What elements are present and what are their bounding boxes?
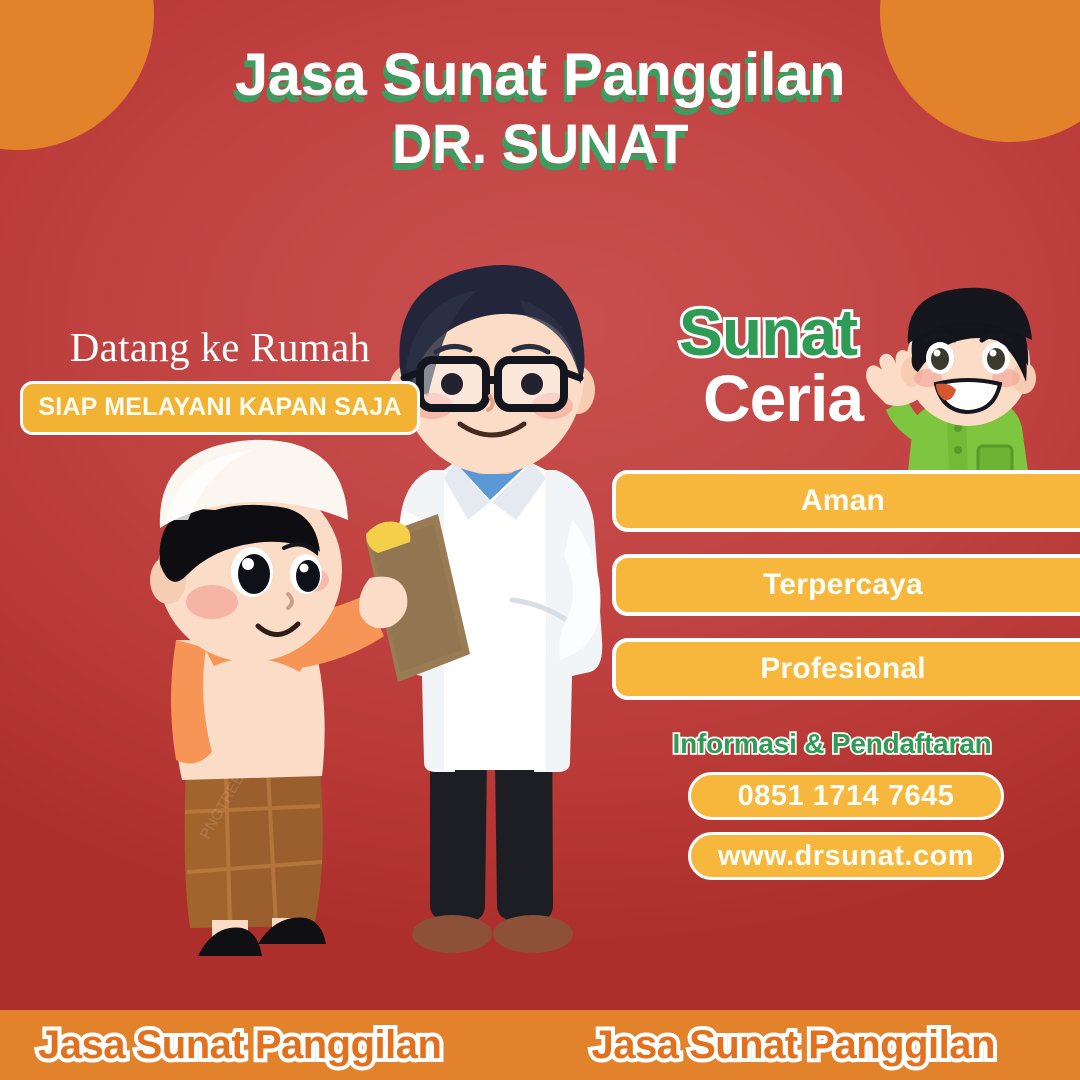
feature-pill-label-aman: Aman: [801, 484, 885, 518]
feature-pill-profesional[interactable]: Profesional: [612, 638, 1080, 700]
info-section-title: Informasi & Pendaftaran: [612, 728, 1052, 760]
footer-text-right: Jasa Sunat Panggilan: [591, 1023, 994, 1068]
status-badge-siap-melayani: SIAP MELAYANI KAPAN SAJA: [20, 381, 420, 435]
tagline-datang-ke-rumah: Datang ke Rumah: [20, 325, 420, 370]
website-label: www.drsunat.com: [718, 840, 974, 873]
footer-bar: Jasa Sunat Panggilan Jasa Sunat Panggila…: [0, 1010, 1080, 1080]
page-title-line-2: DR. SUNAT: [0, 115, 1080, 172]
heading-word-ceria: Ceria: [486, 366, 1080, 430]
corner-circle-top-left-icon: [0, 0, 154, 150]
corner-circle-top-right-icon: [880, 0, 1080, 142]
feature-pill-terpercaya[interactable]: Terpercaya: [612, 554, 1080, 616]
footer-text-left: Jasa Sunat Panggilan: [38, 1023, 441, 1068]
poster-canvas: PNGTREE: [0, 0, 1080, 1080]
website-pill[interactable]: www.drsunat.com: [688, 832, 1004, 880]
sunat-ceria-heading: Sunat Ceria: [606, 300, 1080, 430]
feature-pill-label-profesional: Profesional: [760, 652, 926, 686]
svg-text:PNGTREE: PNGTREE: [197, 771, 248, 842]
feature-pill-label-terpercaya: Terpercaya: [763, 568, 923, 602]
boy-patient-character: PNGTREE: [150, 440, 407, 956]
feature-pill-aman[interactable]: Aman: [612, 470, 1080, 532]
phone-number-label: 0851 1714 7645: [738, 780, 955, 813]
clipboard-icon: [366, 514, 470, 682]
heading-word-sunat: Sunat: [456, 300, 1080, 364]
phone-number-pill[interactable]: 0851 1714 7645: [688, 772, 1004, 820]
status-badge-label: SIAP MELAYANI KAPAN SAJA: [38, 393, 401, 421]
left-text-block: Datang ke Rumah SIAP MELAYANI KAPAN SAJA: [20, 325, 420, 435]
right-content-block: Sunat Ceria Aman Terpercaya Profesional …: [612, 300, 1080, 880]
